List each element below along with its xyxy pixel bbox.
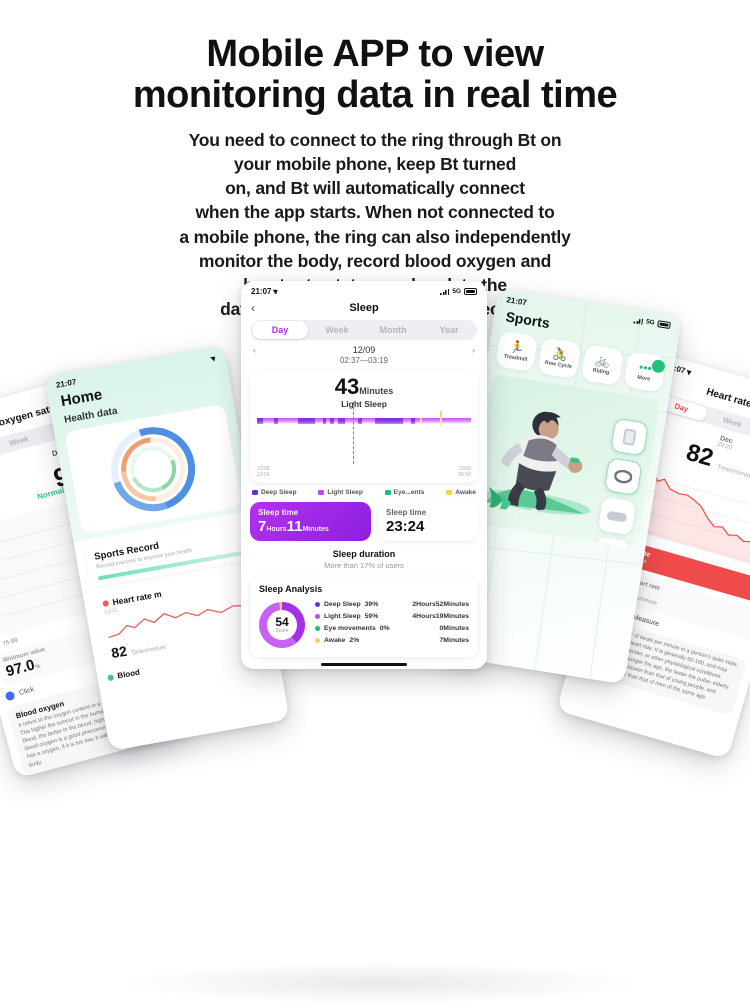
desc-line-2: your mobile phone, keep Bt turned [0, 152, 750, 176]
legend-label: Eye...ents [394, 489, 425, 496]
tab-week[interactable]: Week [309, 325, 365, 335]
sleep-tiles: Sleep time 7Hours11Minutes Sleep time 23… [241, 496, 487, 541]
next-day-button[interactable]: › [472, 345, 475, 355]
desc-line-5: a mobile phone, the ring can also indepe… [0, 225, 750, 249]
row-dot-icon [315, 614, 320, 619]
row-percent: 59% [365, 613, 379, 620]
row-percent: 39% [365, 601, 379, 608]
sleep-segment [422, 418, 471, 424]
row-cycle-icon: 🚴 [552, 347, 569, 361]
legend-label: Awake [455, 489, 476, 496]
ground-shadow [120, 962, 640, 1004]
duration-subtitle: More than 17% of users [241, 561, 487, 570]
date-navigator: ‹ 12/09 › [241, 340, 487, 355]
time-range: 02:37—03:19 [241, 356, 487, 365]
sleep-chart-card: 43Minutes Light Sleep 12/0823:24 12/0906… [250, 370, 478, 483]
row-percent: 2% [349, 637, 359, 644]
ring-icon [613, 468, 633, 485]
sleep-segment [263, 418, 274, 424]
status-bar: 21:07 5G [241, 281, 487, 298]
analysis-body: 54 Score Deep Sleep 39% 2Hours52Minutes [259, 601, 469, 649]
page-title-line2: monitoring data in real time [0, 75, 750, 116]
chart-axis-labels: 12/0823:24 12/0906:50 [257, 466, 471, 479]
sleep-segment [278, 418, 297, 424]
legend-item-deep: Deep Sleep [252, 489, 297, 496]
battery-icon [464, 288, 477, 295]
runner-figure-icon [478, 391, 611, 524]
tile-label: Sleep time [386, 508, 470, 517]
start-date: 12/08 [257, 466, 270, 472]
minutes-number: 11 [287, 518, 303, 535]
signal-icon [440, 289, 449, 295]
battery-icon [657, 320, 671, 328]
score-value: 54 [275, 616, 288, 628]
legend-swatch-icon [385, 490, 391, 495]
sleep-stage-chart[interactable] [257, 418, 471, 464]
heart-rate-number: 82 [110, 643, 128, 661]
row-label: Light Sleep [324, 613, 361, 620]
bpm-number: 82 [683, 439, 716, 472]
sleep-segment [315, 418, 324, 424]
minutes-unit: Minutes [302, 526, 328, 533]
status-icons: 5G [440, 288, 477, 295]
analysis-row: Eye movements 0% 0Minutes [315, 625, 469, 632]
desc-line-4: when the app starts. When not connected … [0, 200, 750, 224]
duration-number: 43 [335, 374, 359, 399]
legend-swatch-icon [446, 490, 452, 495]
end-time: 06:50 [458, 472, 471, 478]
sleep-bedtime-tile[interactable]: Sleep time 23:24 [378, 502, 478, 541]
ring-device-button[interactable] [604, 457, 643, 496]
analysis-title: Sleep Analysis [259, 584, 469, 594]
tab-day[interactable]: Day [252, 321, 308, 339]
tile-label: Sleep time [258, 508, 363, 517]
tab-week[interactable]: Week [706, 411, 750, 434]
sport-riding[interactable]: 🚲 Riding [580, 344, 623, 386]
sleep-segment [403, 418, 412, 424]
phone-icon [621, 427, 638, 447]
location-icon [687, 369, 693, 376]
phone-sleep: 21:07 5G ‹ Sleep Day Week Month Year ‹ [241, 281, 487, 669]
runner-illustration [469, 374, 660, 549]
status-icons [208, 354, 216, 361]
signal-icon [634, 317, 644, 324]
sport-treadmill[interactable]: 🏃 Treadmill [495, 331, 538, 373]
back-button[interactable]: ‹ [251, 301, 269, 315]
hours-unit: Hours [266, 526, 286, 533]
legend-label: 75-99 [2, 638, 18, 648]
pill-icon [606, 510, 627, 522]
desc-line-1: You need to connect to the ring through … [0, 128, 750, 152]
riding-icon: 🚲 [594, 354, 611, 368]
location-icon [273, 287, 280, 294]
activity-rings-icon [104, 421, 201, 518]
heart-rate-unit: Times/minute [131, 645, 167, 657]
status-time-text: 21:07 [251, 287, 271, 296]
analysis-row: Awake 2% 7Minutes [315, 637, 469, 644]
sport-label: Riding [592, 368, 610, 377]
row-duration: 7Minutes [440, 637, 469, 644]
duration-unit: Minutes [359, 386, 393, 396]
sport-row-cycle[interactable]: 🚴 Row Cycle [538, 337, 581, 379]
heart-icon [102, 600, 109, 607]
legend-item-awake: Awake [446, 489, 476, 496]
sleep-analysis-card: Sleep Analysis 54 Score Deep Sleep 39% [250, 577, 478, 657]
sleep-segment [298, 418, 315, 424]
tab-month[interactable]: Month [365, 325, 421, 335]
legend-label: Light Sleep [327, 489, 363, 496]
chart-end-label: 12/0906:50 [458, 466, 471, 479]
start-time: 23:24 [257, 472, 270, 478]
phone-device-button[interactable] [610, 418, 649, 457]
row-duration: 0Minutes [440, 625, 469, 632]
end-date: 12/09 [458, 466, 471, 472]
legend-item-eye: Eye...ents [385, 489, 425, 496]
treadmill-icon: 🏃 [509, 340, 526, 354]
chart-start-label: 12/0823:24 [257, 466, 270, 479]
sport-label: More [637, 375, 651, 383]
phone-fan-stage: 21:07 ‹ Blood oxygen satu Day Week Month… [0, 272, 750, 750]
tab-year[interactable]: Year [421, 325, 477, 335]
tile-value: 23:24 [386, 518, 470, 535]
measure-label: Click [18, 686, 34, 697]
legend-label: Deep Sleep [261, 489, 297, 496]
more-icon: ••• [638, 361, 652, 375]
row-label: Deep Sleep [324, 601, 361, 608]
page-title: Mobile APP to view monitoring data in re… [0, 34, 750, 116]
sleep-segment [375, 418, 403, 424]
sleep-duration-summary: Sleep duration More than 17% of users [241, 549, 487, 570]
prev-day-button[interactable]: ‹ [253, 345, 256, 355]
legend-swatch-icon [252, 490, 258, 495]
row-dot-icon [315, 638, 320, 643]
home-indicator [321, 663, 407, 667]
measure-icon [5, 690, 16, 701]
sleep-segment [362, 418, 375, 424]
location-icon [210, 354, 217, 361]
desc-line-6: monitor the body, record blood oxygen an… [0, 249, 750, 273]
period-tabs[interactable]: Day Week Month Year [251, 320, 477, 340]
health-rings-card [64, 404, 242, 535]
sleep-duration-tile[interactable]: Sleep time 7Hours11Minutes [250, 502, 371, 541]
row-label: Awake [324, 637, 345, 644]
pill-button[interactable] [598, 497, 637, 536]
network-label: 5G [452, 288, 461, 295]
nav-bar: ‹ Sleep [241, 298, 487, 320]
page-title: Sleep [269, 302, 459, 314]
legend-swatch-icon [318, 490, 324, 495]
oxygen-icon [107, 674, 114, 681]
row-dot-icon [315, 602, 320, 607]
legend-item-light: Light Sleep [318, 489, 363, 496]
sleep-segment [345, 418, 358, 424]
analysis-row: Deep Sleep 39% 2Hours52Minutes [315, 601, 469, 608]
stage-label: Light Sleep [257, 399, 471, 409]
duration-title: Sleep duration [333, 549, 396, 559]
sport-label: Treadmill [503, 354, 527, 364]
bpm-unit: Times/minute [716, 464, 750, 480]
row-dot-icon [315, 626, 320, 631]
desc-line-3: on, and Bt will automatically connect [0, 176, 750, 200]
chart-cursor[interactable] [353, 402, 354, 464]
current-date: 12/09 [353, 345, 376, 355]
row-duration: 4Hours19Minutes [412, 613, 469, 620]
row-duration: 2Hours52Minutes [412, 601, 469, 608]
chart-legend: Deep Sleep Light Sleep Eye...ents Awake [241, 483, 487, 496]
sleep-bars [257, 418, 471, 424]
page-title-line1: Mobile APP to view [206, 33, 543, 75]
sport-label: Row Cycle [544, 360, 572, 370]
score-text: 54 Score [259, 602, 305, 648]
sleep-score-donut: 54 Score [259, 602, 305, 648]
status-time: 21:07 [506, 295, 528, 307]
duration-value: 43Minutes [257, 375, 471, 398]
score-word: Score [275, 628, 288, 634]
analysis-row: Light Sleep 59% 4Hours19Minutes [315, 613, 469, 620]
minimum-unit: % [35, 664, 42, 671]
network-label: 5G [646, 318, 656, 326]
row-label: Eye movements [324, 625, 376, 632]
status-time: 21:07 [251, 287, 278, 296]
blood-oxygen-title: Blood [117, 668, 141, 681]
row-percent: 0% [380, 625, 390, 632]
analysis-rows: Deep Sleep 39% 2Hours52Minutes Light Sle… [315, 601, 469, 649]
tile-value: 7Hours11Minutes [258, 518, 363, 535]
home-header: 21:07 Home Health data [44, 345, 252, 542]
